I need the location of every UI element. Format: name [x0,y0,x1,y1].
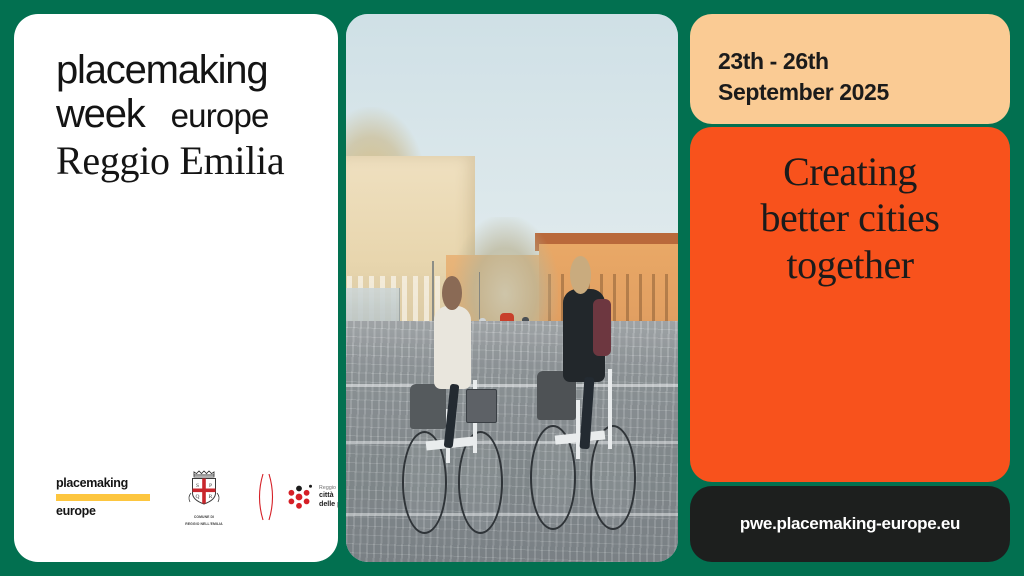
svg-text:P: P [209,483,212,489]
event-title-block: placemaking weekeurope Reggio Emilia [56,50,324,182]
svg-text:Q: Q [196,494,200,500]
tagline-line1: Creating [708,149,992,195]
comune-reggio-emilia-logo: S P Q R COMUNE DI REGGIO NELL'EMILIA [176,468,232,526]
partner-logo-row: placemaking europe S P [44,466,316,528]
event-poster: placemaking weekeurope Reggio Emilia pla… [0,0,1024,576]
hero-photo [346,14,678,562]
pme-word-placemaking: placemaking [56,476,150,491]
cyclist-right-front-wheel [590,425,636,529]
tagline-panel: Creating better cities together [690,127,1010,482]
cyclist-left-jacket [434,306,471,390]
title-word-europe: europe [171,97,269,134]
bracket-pair-icon [255,473,277,521]
title-word-week: week [56,92,145,136]
comune-crest-icon: S P Q R [185,468,223,508]
comune-caption-line1: COMUNE DI [176,515,232,520]
photo-cyclist-left [399,315,532,562]
photo-cyclist-right [529,304,668,562]
tagline-line3: together [708,242,992,288]
brand-card: placemaking weekeurope Reggio Emilia pla… [14,14,338,562]
svg-text:R: R [209,494,213,500]
placemaking-europe-logo: placemaking europe [56,476,150,519]
svg-text:S: S [196,483,199,489]
website-url-text[interactable]: pwe.placemaking-europe.eu [740,514,960,534]
cyclist-right-seat-tube [576,400,580,459]
tagline-text: Creating better cities together [708,149,992,288]
citta-text-block: Reggio Emilia città delle persone [319,485,338,509]
event-date-line2: September 2025 [718,77,889,108]
pme-word-europe: europe [56,504,150,519]
event-date-badge: 23th - 26th September 2025 [690,14,1010,124]
citta-delle-persone-logo: Reggio Emilia città delle persone [284,482,338,512]
pme-yellow-bar-icon [56,494,150,501]
title-line-city: Reggio Emilia [56,140,324,182]
cyclist-left-head [442,276,462,311]
citta-big-line2: delle persone [319,500,338,509]
cyclist-right-fork [608,369,611,449]
cyclist-left-front-wheel [458,431,503,534]
event-date-line1: 23th - 26th [718,46,889,77]
title-line-week-europe: weekeurope [56,93,324,136]
tagline-line2: better cities [708,195,992,241]
title-line-placemaking: placemaking [56,50,324,91]
event-date-text: 23th - 26th September 2025 [718,46,889,107]
comune-caption-line2: REGGIO NELL'EMILIA [176,522,232,527]
cyclist-right-strap [593,299,611,356]
cyclist-left-rear-bag [410,384,446,428]
cyclist-left-front-basket [466,389,497,423]
website-url-bar[interactable]: pwe.placemaking-europe.eu [690,486,1010,562]
logo-separator-icon [254,473,278,521]
people-dots-mark-icon [284,482,314,512]
